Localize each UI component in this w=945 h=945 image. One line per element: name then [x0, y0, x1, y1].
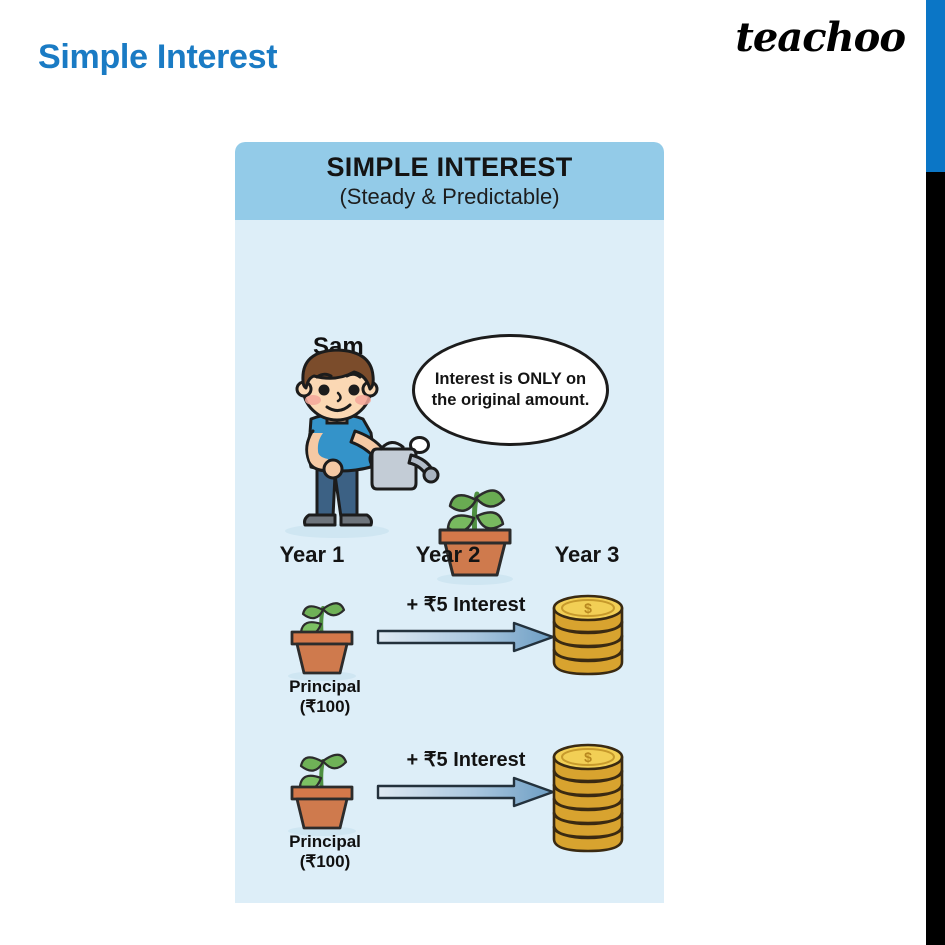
principal-caption: Principal (₹100)	[245, 832, 405, 872]
simple-interest-infographic: SIMPLE INTEREST (Steady & Predictable) S…	[235, 142, 664, 903]
year-label-2: Year 2	[393, 542, 503, 568]
interest-row: Principal (₹100) + ₹5 Interest	[235, 733, 664, 888]
principal-caption-line2: (₹100)	[245, 697, 405, 717]
thought-bubble: Interest is ONLY on the original amount.	[412, 334, 609, 446]
page-title: Simple Interest	[38, 38, 277, 77]
principal-caption-line1: Principal	[245, 832, 405, 852]
interest-arrow-group: + ₹5 Interest	[375, 592, 557, 659]
right-arrow-icon	[375, 620, 557, 654]
infographic-subtitle: (Steady & Predictable)	[235, 184, 664, 209]
interest-arrow-group: + ₹5 Interest	[375, 747, 557, 814]
year-labels-row: Year 1 Year 2 Year 3	[235, 542, 664, 578]
infographic-title: SIMPLE INTEREST	[235, 152, 664, 183]
coin-stack-icon: $	[540, 584, 636, 693]
thought-bubble-text: Interest is ONLY on the original amount.	[415, 369, 606, 410]
right-rail-black	[926, 172, 945, 945]
coin-stack-icon: $	[540, 733, 636, 864]
principal-caption-line2: (₹100)	[245, 852, 405, 872]
boy-watering-icon	[265, 345, 440, 545]
year-label-1: Year 1	[257, 542, 367, 568]
principal-caption: Principal (₹100)	[245, 677, 405, 717]
infographic-header: SIMPLE INTEREST (Steady & Predictable)	[235, 142, 664, 220]
right-rail-blue	[926, 0, 945, 172]
illustration-scene: Sam Interest is ONLY on the original amo…	[235, 220, 664, 542]
interest-row: Principal (₹100) + ₹5 Interest	[235, 578, 664, 733]
right-arrow-icon	[375, 775, 557, 809]
interest-amount-label: + ₹5 Interest	[375, 592, 557, 617]
principal-caption-line1: Principal	[245, 677, 405, 697]
teachoo-logo: teachoo	[735, 14, 905, 61]
interest-amount-label: + ₹5 Interest	[375, 747, 557, 772]
principal-pot-icon	[273, 735, 371, 842]
coin-currency-symbol: $	[584, 600, 592, 616]
coin-currency-symbol: $	[584, 749, 592, 765]
principal-pot-icon	[273, 580, 371, 687]
year-label-3: Year 3	[532, 542, 642, 568]
